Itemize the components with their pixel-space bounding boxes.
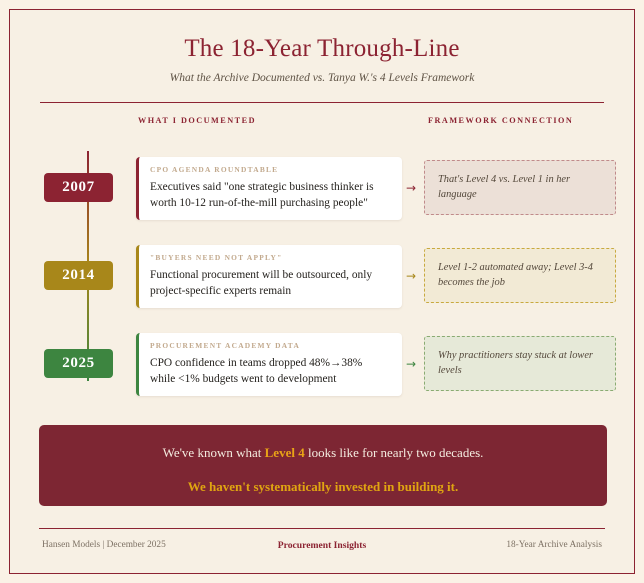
connector-arrow-icon: → [406, 270, 416, 282]
footer: Hansen Models | December 2025 Procuremen… [39, 540, 605, 558]
footer-right: 18-Year Archive Analysis [506, 540, 602, 550]
page-title: The 18-Year Through-Line [10, 35, 634, 63]
conclusion-banner: We've known what Level 4 looks like for … [39, 425, 607, 506]
banner-line-1: We've known what Level 4 looks like for … [39, 445, 607, 461]
connection-text: That's Level 4 vs. Level 1 in her langua… [438, 173, 602, 203]
page-subtitle: What the Archive Documented vs. Tanya W.… [10, 72, 634, 84]
header-divider [40, 102, 604, 103]
footer-left: Hansen Models | December 2025 [42, 540, 166, 550]
column-headers: WHAT I DOCUMENTED FRAMEWORK CONNECTION [10, 116, 634, 142]
timeline-row: 2025 PROCUREMENT ACADEMY DATA CPO confid… [10, 333, 634, 395]
connector-arrow-icon: → [406, 358, 416, 370]
connector-arrow-icon: → [406, 182, 416, 194]
banner-text-before: We've known what [163, 445, 265, 460]
timeline: 2007 CPO AGENDA ROUNDTABLE Executives sa… [10, 145, 634, 395]
documented-card-2014: "BUYERS NEED NOT APPLY" Functional procu… [136, 245, 402, 308]
footer-divider [39, 528, 605, 529]
documented-card-2007: CPO AGENDA ROUNDTABLE Executives said "o… [136, 157, 402, 220]
documented-card-2025: PROCUREMENT ACADEMY DATA CPO confidence … [136, 333, 402, 396]
year-badge-2007: 2007 [44, 173, 113, 202]
connection-box-2014: Level 1-2 automated away; Level 3-4 beco… [424, 248, 616, 303]
card-eyebrow: "BUYERS NEED NOT APPLY" [150, 253, 390, 262]
connection-text: Why practitioners stay stuck at lower le… [438, 349, 602, 379]
connection-text: Level 1-2 automated away; Level 3-4 beco… [438, 261, 602, 291]
card-eyebrow: PROCUREMENT ACADEMY DATA [150, 341, 390, 350]
timeline-row: 2014 "BUYERS NEED NOT APPLY" Functional … [10, 245, 634, 307]
header: The 18-Year Through-Line What the Archiv… [10, 10, 634, 103]
column-header-documented: WHAT I DOCUMENTED [138, 116, 256, 125]
banner-text-after: looks like for nearly two decades. [305, 445, 484, 460]
year-badge-2025: 2025 [44, 349, 113, 378]
card-body: Functional procurement will be outsource… [150, 268, 390, 299]
card-body: Executives said "one strategic business … [150, 180, 390, 211]
poster-page: The 18-Year Through-Line What the Archiv… [9, 9, 635, 574]
year-badge-2014: 2014 [44, 261, 113, 290]
banner-highlight: Level 4 [265, 445, 305, 460]
banner-line-2: We haven't systematically invested in bu… [39, 479, 607, 495]
connection-box-2025: Why practitioners stay stuck at lower le… [424, 336, 616, 391]
column-header-framework: FRAMEWORK CONNECTION [428, 116, 573, 125]
timeline-row: 2007 CPO AGENDA ROUNDTABLE Executives sa… [10, 157, 634, 219]
card-body: CPO confidence in teams dropped 48%→38% … [150, 356, 390, 387]
card-eyebrow: CPO AGENDA ROUNDTABLE [150, 165, 390, 174]
footer-center: Procurement Insights [278, 540, 366, 551]
connection-box-2007: That's Level 4 vs. Level 1 in her langua… [424, 160, 616, 215]
